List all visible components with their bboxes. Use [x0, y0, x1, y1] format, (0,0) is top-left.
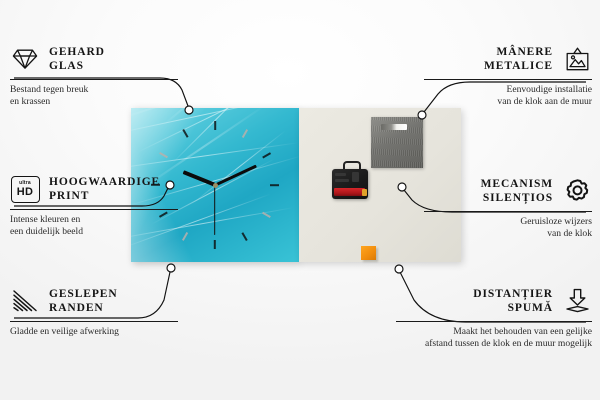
feature-header: MÂNERE METALICE: [424, 42, 592, 76]
mechanism-detail: [335, 179, 349, 182]
feature-foam-spacer: DISTANȚIER SPUMĂ Maakt het behouden van …: [396, 284, 592, 350]
feature-header: MECANISM SILENȚIOS: [424, 174, 592, 208]
ultra-hd-icon: ultra HD: [10, 174, 40, 204]
feature-description: Intense kleuren en een duidelijk beeld: [10, 214, 178, 238]
clock-tick: [242, 129, 248, 138]
foam-spacer: [361, 246, 376, 260]
feature-title: GESLEPEN RANDEN: [49, 287, 118, 316]
mechanism-detail: [335, 173, 346, 176]
connector-endpoint: [167, 264, 175, 272]
feature-title: DISTANȚIER SPUMĂ: [473, 287, 553, 316]
clock-tick: [159, 152, 168, 158]
feature-header: GESLEPEN RANDEN: [10, 284, 178, 318]
beveled-edge-icon: [10, 286, 40, 316]
feature-ground-edges: GESLEPEN RANDEN Gladde en veilige afwerk…: [10, 284, 178, 338]
clock-tick: [242, 232, 248, 241]
feature-divider: [396, 321, 592, 322]
feature-divider: [10, 79, 178, 80]
feature-divider: [10, 209, 178, 210]
clock-tick: [262, 212, 271, 218]
clock-tick: [270, 184, 279, 186]
mechanism-detail: [352, 172, 359, 182]
feature-title: GEHARD GLAS: [49, 45, 105, 74]
battery-terminal: [362, 189, 367, 196]
connector-endpoint: [395, 265, 403, 273]
feature-header: DISTANȚIER SPUMĂ: [396, 284, 592, 318]
hanger-slot: [381, 124, 407, 130]
feature-header: GEHARD GLAS: [10, 42, 178, 76]
clock-tick: [182, 232, 188, 241]
feature-title: MÂNERE METALICE: [484, 45, 553, 74]
feature-metal-handles: MÂNERE METALICE Eenvoudige installatie v…: [424, 42, 592, 108]
product-image: [131, 108, 461, 262]
gear-icon: [562, 176, 592, 206]
clock-mechanism: [332, 165, 368, 199]
feature-title: HOOGWAARDIGE PRINT: [49, 175, 160, 204]
feature-description: Eenvoudige installatie van de klok aan d…: [424, 84, 592, 108]
spacer-arrow-icon: [562, 286, 592, 316]
infographic-canvas: GEHARD GLAS Bestand tegen breuk en krass…: [0, 0, 600, 400]
feature-header: ultra HD HOOGWAARDIGE PRINT: [10, 172, 178, 206]
feature-tempered-glass: GEHARD GLAS Bestand tegen breuk en krass…: [10, 42, 178, 108]
mechanism-battery: [334, 188, 365, 196]
clock-hand-cap: [213, 183, 218, 188]
clock-hour-hand: [183, 171, 216, 187]
feature-divider: [424, 211, 592, 212]
feature-description: Maakt het behouden van een gelijke afsta…: [396, 326, 592, 350]
ultra-hd-icon-top-text: ultra: [19, 181, 31, 186]
clock-second-hand: [214, 185, 215, 235]
metal-hanger-plate: [371, 117, 423, 168]
feature-divider: [10, 321, 178, 322]
feature-divider: [424, 79, 592, 80]
picture-frame-icon: [562, 44, 592, 74]
feature-high-quality-print: ultra HD HOOGWAARDIGE PRINT Intense kleu…: [10, 172, 178, 238]
diamond-icon: [10, 44, 40, 74]
clock-tick: [262, 152, 271, 158]
mechanism-body: [332, 169, 368, 199]
clock-minute-hand: [214, 165, 256, 187]
feature-description: Gladde en veilige afwerking: [10, 326, 178, 338]
ultra-hd-icon-main-text: HD: [17, 187, 34, 198]
clock-tick: [214, 240, 216, 249]
clock-tick: [182, 129, 188, 138]
feature-silent-mechanism: MECANISM SILENȚIOS Geruisloze wijzers va…: [424, 174, 592, 240]
feature-description: Bestand tegen breuk en krassen: [10, 84, 178, 108]
feature-title: MECANISM SILENȚIOS: [481, 177, 553, 206]
feature-description: Geruisloze wijzers van de klok: [424, 216, 592, 240]
clock-tick: [214, 121, 216, 130]
